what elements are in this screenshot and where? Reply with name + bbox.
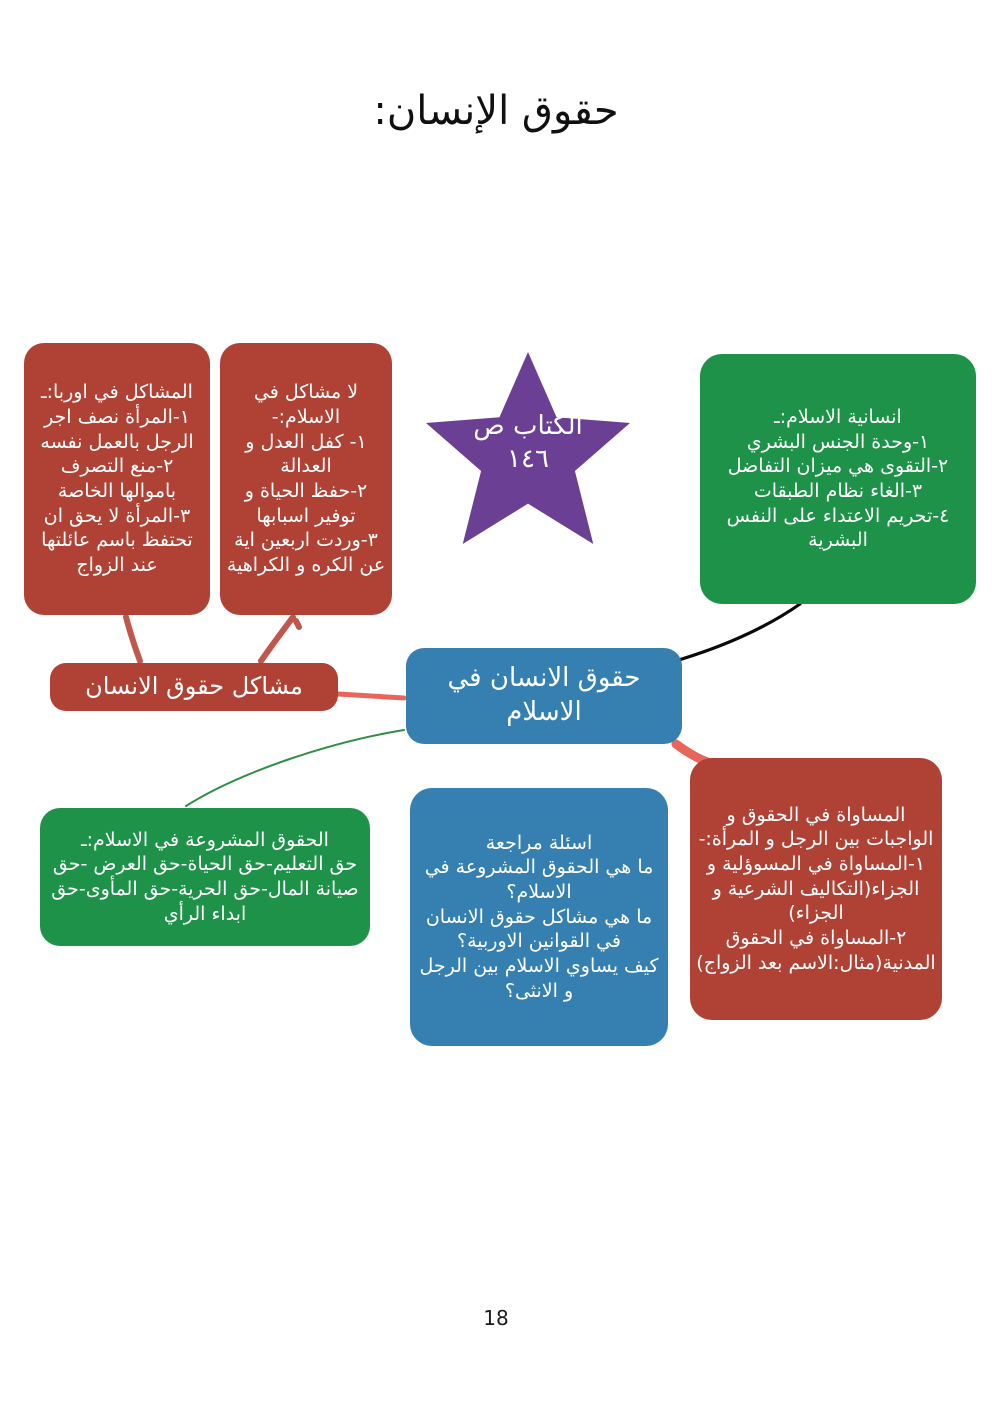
node-human-rights-problems[interactable]: مشاكل حقوق الانسان [50, 663, 338, 711]
node-europe-problems[interactable]: المشاكل في اوربا:ـ ١-المرأة نصف اجر الرج… [24, 343, 210, 615]
connector-center-to-legit-rights [186, 730, 404, 806]
page-number: 18 [0, 1306, 992, 1330]
node-no-problems-in-islam[interactable]: لا مشاكل في الاسلام:- ١- كفل العدل و الع… [220, 343, 392, 615]
connector-center-to-problems-label [338, 694, 404, 698]
node-book-reference-label: الكتاب ص ١٤٦ [426, 410, 630, 477]
connector-stub-no-problems [296, 621, 299, 627]
page-title: حقوق الإنسان: [0, 88, 992, 134]
node-legitimate-rights-text: الحقوق المشروعة في الاسلام:ـ حق التعليم-… [46, 828, 364, 927]
document-page: حقوق الإنسان: المشاكل في اوربا:ـ ١-المرأ… [0, 0, 992, 1403]
node-center-label: حقوق الانسان في الاسلام [412, 662, 676, 730]
node-legitimate-rights-in-islam[interactable]: الحقوق المشروعة في الاسلام:ـ حق التعليم-… [40, 808, 370, 946]
connector-center-to-humanity [672, 604, 800, 662]
node-europe-problems-text: المشاكل في اوربا:ـ ١-المرأة نصف اجر الرج… [30, 380, 204, 578]
node-center-human-rights-in-islam[interactable]: حقوق الانسان في الاسلام [406, 648, 682, 744]
connector-problems-label-to-europe [126, 617, 140, 661]
node-book-reference-star[interactable]: الكتاب ص ١٤٦ [426, 352, 630, 544]
node-review-questions[interactable]: اسئلة مراجعة ما هي الحقوق المشروعة في ال… [410, 788, 668, 1046]
node-humanity-of-islam-text: انسانية الاسلام:ـ ١-وحدة الجنس البشري ٢-… [706, 405, 970, 553]
node-human-rights-problems-text: مشاكل حقوق الانسان [56, 671, 332, 702]
node-equality-rights-duties[interactable]: المساواة في الحقوق و الواجبات بين الرجل … [690, 758, 942, 1020]
connector-problems-label-to-no-problems [261, 617, 293, 661]
node-no-problems-in-islam-text: لا مشاكل في الاسلام:- ١- كفل العدل و الع… [226, 380, 386, 578]
node-equality-rights-duties-text: المساواة في الحقوق و الواجبات بين الرجل … [696, 803, 936, 976]
node-review-questions-text: اسئلة مراجعة ما هي الحقوق المشروعة في ال… [416, 831, 662, 1004]
node-humanity-of-islam[interactable]: انسانية الاسلام:ـ ١-وحدة الجنس البشري ٢-… [700, 354, 976, 604]
